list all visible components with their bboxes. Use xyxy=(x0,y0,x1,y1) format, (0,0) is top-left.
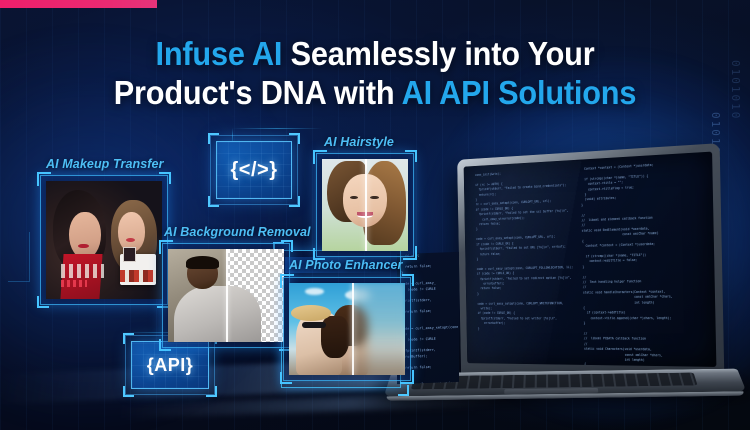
laptop-screen: conn_init(&ctx); if (rc != AUTH) { fprin… xyxy=(464,152,717,367)
circuit-bracket xyxy=(8,232,30,282)
page-title: Infuse AI Seamlessly into Your Product's… xyxy=(0,37,750,109)
low-quality-half xyxy=(352,283,405,375)
laptop-lid: conn_init(&ctx); if (rc != AUTH) { fprin… xyxy=(457,143,724,381)
top-accent-bar xyxy=(0,0,157,8)
code-badge-label: {</>} xyxy=(231,159,278,182)
subject-hair xyxy=(186,256,219,269)
ai-api-banner: 010101 0101010 01010 Infuse AI Seamlessl… xyxy=(0,0,750,430)
makeup-photo xyxy=(46,181,162,299)
before-after-divider xyxy=(365,159,367,251)
hairstyle-photo xyxy=(322,159,408,251)
corner-bracket-icon xyxy=(289,133,300,144)
circuit-line xyxy=(232,128,322,129)
sunglasses xyxy=(302,322,326,328)
card-label-makeup: AI Makeup Transfer xyxy=(46,157,164,171)
card-frame xyxy=(316,153,414,257)
cloud xyxy=(305,288,324,295)
api-badge-label: {API} xyxy=(147,355,194,376)
headline-line-2: Product's DNA with AI API Solutions xyxy=(26,76,724,110)
card-ai-background-removal[interactable]: AI Background Removal xyxy=(162,243,290,348)
subject-body xyxy=(174,286,261,342)
card-ai-hairstyle[interactable]: AI Hairstyle xyxy=(316,153,414,257)
second-model-lips xyxy=(126,238,135,242)
magazine-subtitle-text xyxy=(61,280,87,287)
code-badge[interactable]: {</>} xyxy=(216,141,292,199)
headline-plain-1: Seamlessly into Your xyxy=(282,35,594,72)
before-after-divider xyxy=(226,249,228,342)
card-ai-makeup-transfer[interactable]: AI Makeup Transfer xyxy=(40,175,168,305)
before-after-divider xyxy=(352,283,354,375)
magazine-title-text xyxy=(61,264,104,278)
card-ai-photo-enhancer[interactable]: AI Photo Enhancer xyxy=(283,277,411,381)
model-lips xyxy=(78,244,88,249)
headline-plain-2: Product's DNA with xyxy=(114,74,402,111)
corner-bracket-icon xyxy=(289,196,300,207)
subject-person xyxy=(173,256,263,342)
model-face xyxy=(69,212,100,259)
makeup-swatches xyxy=(120,270,156,282)
card-label-photo-enhancer: AI Photo Enhancer xyxy=(285,257,407,273)
headline-line-1: Infuse AI Seamlessly into Your xyxy=(26,37,724,71)
card-label-hairstyle: AI Hairstyle xyxy=(324,135,394,149)
card-frame xyxy=(40,175,168,305)
card-label-background-removal: AI Background Removal xyxy=(164,225,311,239)
photo-enhancer-photo xyxy=(289,283,405,375)
corner-bracket-icon xyxy=(123,386,134,397)
background-removal-photo xyxy=(168,249,284,342)
headline-highlight-1: Infuse AI xyxy=(155,35,282,72)
corner-bracket-icon xyxy=(208,196,219,207)
card-frame xyxy=(162,243,290,348)
card-frame xyxy=(283,277,411,381)
palette-thumbnail xyxy=(123,247,137,262)
first-person-hair xyxy=(321,316,349,358)
corner-bracket-icon xyxy=(123,333,134,344)
corner-bracket-icon xyxy=(208,133,219,144)
straw-hat xyxy=(291,305,330,321)
headline-highlight-2: AI API Solutions xyxy=(402,74,637,111)
second-model-face xyxy=(118,212,145,252)
corner-bracket-icon xyxy=(206,386,217,397)
code-badge-box[interactable]: {</>} xyxy=(216,141,292,199)
makeup-scene xyxy=(46,181,162,299)
